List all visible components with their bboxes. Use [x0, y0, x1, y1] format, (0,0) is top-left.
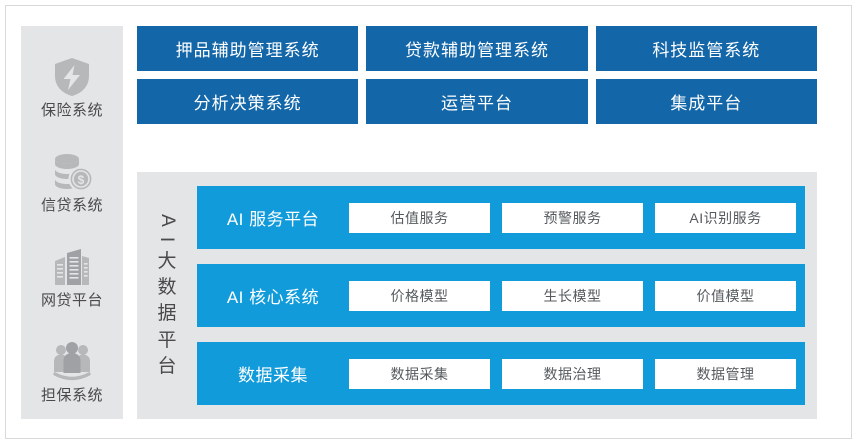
row-cells-ai-core: 价格模型 生长模型 价值模型: [349, 281, 796, 311]
platform-row-ai-service: AI 服务平台 估值服务 预警服务 AI识别服务: [197, 186, 805, 249]
coins-dollar-icon: $: [49, 149, 95, 195]
sidebar-item-insurance[interactable]: 保险系统: [21, 38, 123, 133]
sidebar-item-label: 担保系统: [41, 388, 103, 403]
row-title-ai-service: AI 服务平台: [197, 205, 349, 230]
sidebar-item-label: 保险系统: [41, 103, 103, 118]
sidebar-item-guarantee[interactable]: 担保系统: [21, 323, 123, 418]
system-button-operations-platform[interactable]: 运营平台: [366, 79, 587, 124]
cell-data-management[interactable]: 数据管理: [655, 359, 796, 389]
sidebar-item-label: 信贷系统: [41, 198, 103, 213]
cell-growth-model[interactable]: 生长模型: [502, 281, 643, 311]
system-button-collateral-aid[interactable]: 押品辅助管理系统: [137, 26, 358, 71]
svg-text:$: $: [78, 173, 85, 187]
platform-rows: AI 服务平台 估值服务 预警服务 AI识别服务 AI 核心系统 价格模型 生长…: [197, 186, 805, 405]
vertical-label-char: 据: [157, 301, 176, 327]
sidebar-item-credit[interactable]: $ 信贷系统: [21, 133, 123, 228]
cell-ai-recognition-service[interactable]: AI识别服务: [655, 203, 796, 233]
cell-alert-service[interactable]: 预警服务: [502, 203, 643, 233]
vertical-label-char: I: [157, 237, 176, 242]
vertical-label-char: 大: [157, 249, 176, 275]
cell-data-collection[interactable]: 数据采集: [349, 359, 490, 389]
vertical-label-char: A: [157, 214, 176, 227]
sidebar-item-label: 网贷平台: [41, 293, 103, 308]
system-button-tech-supervision[interactable]: 科技监管系统: [596, 26, 817, 71]
architecture-diagram: 保险系统 $ 信贷系统: [0, 0, 857, 444]
platform-row-data-collection: 数据采集 数据采集 数据治理 数据管理: [197, 342, 805, 405]
buildings-icon: [49, 244, 95, 290]
top-systems-section: 押品辅助管理系统 贷款辅助管理系统 科技监管系统 分析决策系统 运营平台 集成平…: [137, 26, 817, 132]
vertical-label-char: 台: [157, 354, 176, 380]
cell-value-model[interactable]: 价值模型: [655, 281, 796, 311]
platform-vertical-label: A I 大 数 据 平 台: [137, 186, 197, 405]
cell-data-governance[interactable]: 数据治理: [502, 359, 643, 389]
system-button-analysis-decision[interactable]: 分析决策系统: [137, 79, 358, 124]
system-button-integration-platform[interactable]: 集成平台: [596, 79, 817, 124]
top-systems-row-2: 分析决策系统 运营平台 集成平台: [137, 79, 817, 124]
sidebar-item-online-lending[interactable]: 网贷平台: [21, 228, 123, 323]
cell-valuation-service[interactable]: 估值服务: [349, 203, 490, 233]
row-cells-ai-service: 估值服务 预警服务 AI识别服务: [349, 203, 796, 233]
system-button-loan-aid[interactable]: 贷款辅助管理系统: [366, 26, 587, 71]
vertical-label-char: 平: [157, 328, 176, 354]
platform-row-ai-core: AI 核心系统 价格模型 生长模型 价值模型: [197, 264, 805, 327]
sidebar: 保险系统 $ 信贷系统: [21, 26, 123, 419]
row-title-ai-core: AI 核心系统: [197, 283, 349, 308]
top-systems-row-1: 押品辅助管理系统 贷款辅助管理系统 科技监管系统: [137, 26, 817, 71]
cell-price-model[interactable]: 价格模型: [349, 281, 490, 311]
row-title-data-collection: 数据采集: [197, 361, 349, 386]
vertical-label-char: 数: [157, 275, 176, 301]
row-cells-data-collection: 数据采集 数据治理 数据管理: [349, 359, 796, 389]
shield-bolt-icon: [49, 54, 95, 100]
ai-bigdata-platform-panel: A I 大 数 据 平 台 AI 服务平台 估值服务 预警服务 AI识别服务 A…: [137, 172, 817, 419]
people-group-icon: [49, 339, 95, 385]
